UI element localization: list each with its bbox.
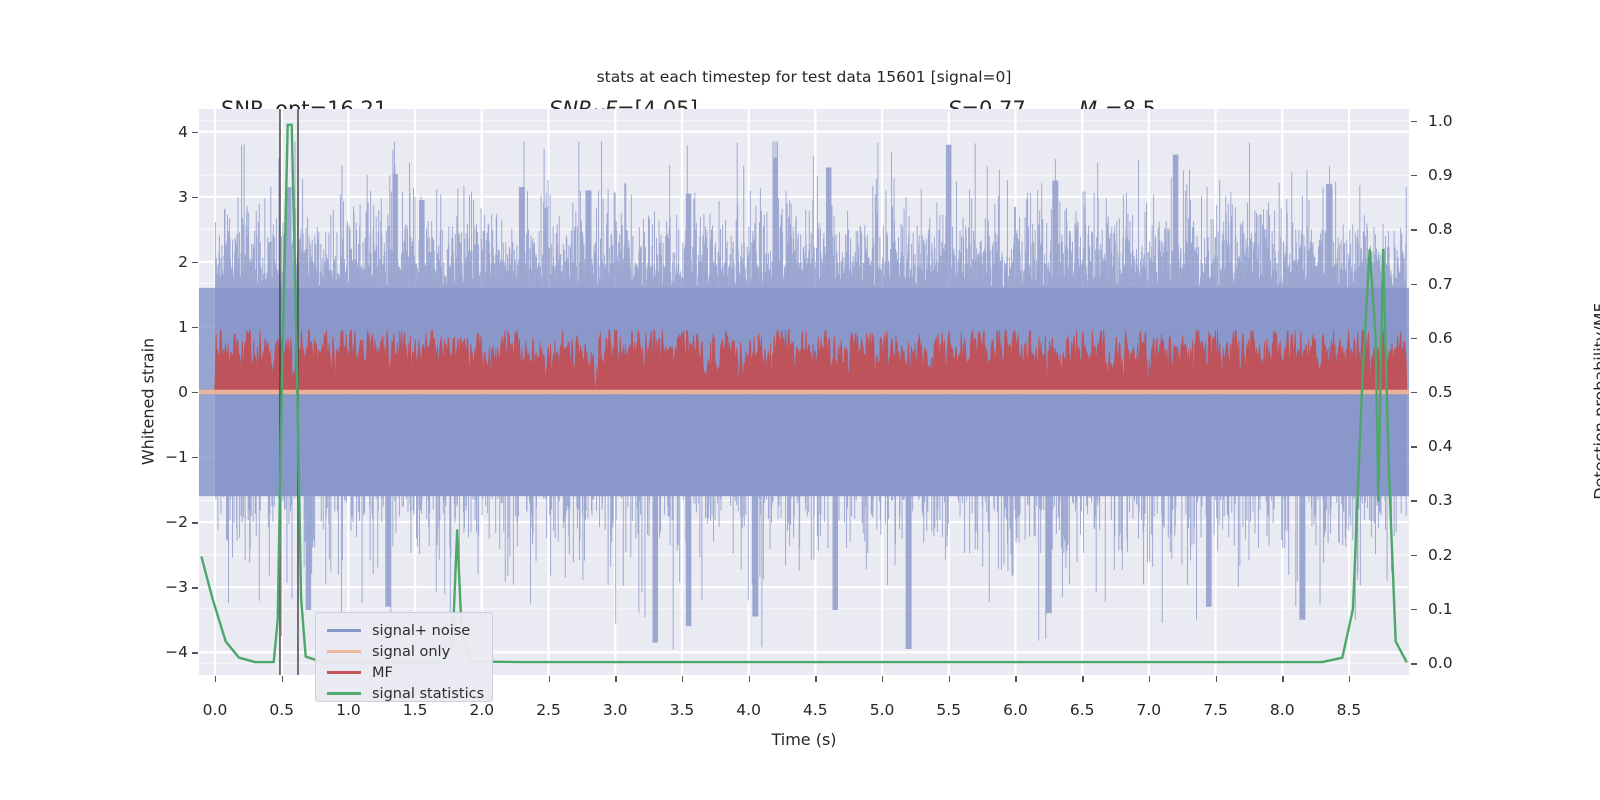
x-tickmark-9 bbox=[815, 676, 816, 682]
y-tick-left-0: 4 bbox=[178, 123, 188, 141]
y-tick-right-7: 0.3 bbox=[1428, 491, 1453, 509]
x-tickmark-16 bbox=[1282, 676, 1283, 682]
legend-label-0: signal+ noise bbox=[372, 623, 470, 639]
y-tickmark-right-2 bbox=[1411, 229, 1417, 230]
y-tickmark-left-6 bbox=[192, 522, 198, 523]
y-tickmark-left-3 bbox=[192, 327, 198, 328]
legend-swatch-icon-2 bbox=[327, 671, 361, 674]
x-tick-17: 8.5 bbox=[1337, 701, 1362, 719]
y-tick-left-6: −2 bbox=[165, 513, 188, 531]
x-tick-11: 5.5 bbox=[936, 701, 961, 719]
x-axis-label: Time (s) bbox=[199, 730, 1409, 749]
figure-canvas: stats at each timestep for test data 156… bbox=[0, 0, 1600, 800]
legend-item-2[interactable]: MF bbox=[316, 662, 492, 683]
y-tickmark-right-3 bbox=[1411, 284, 1417, 285]
plot-canvas bbox=[199, 109, 1409, 675]
y-tickmark-right-8 bbox=[1411, 555, 1417, 556]
y-tickmark-left-2 bbox=[192, 262, 198, 263]
x-tickmark-15 bbox=[1216, 676, 1217, 682]
y-tick-left-1: 3 bbox=[178, 188, 188, 206]
x-tick-10: 5.0 bbox=[870, 701, 895, 719]
y-tickmark-right-9 bbox=[1411, 609, 1417, 610]
y-tick-left-8: −4 bbox=[165, 643, 188, 661]
x-tick-5: 2.5 bbox=[536, 701, 561, 719]
y-tickmark-left-0 bbox=[192, 132, 198, 133]
x-tickmark-5 bbox=[549, 676, 550, 682]
y-tick-right-3: 0.7 bbox=[1428, 275, 1453, 293]
y-tick-right-2: 0.8 bbox=[1428, 220, 1453, 238]
y-axis-left-label: Whitened strain bbox=[139, 242, 158, 562]
legend-item-1[interactable]: signal only bbox=[316, 641, 492, 662]
x-tick-8: 4.0 bbox=[736, 701, 761, 719]
x-tickmark-13 bbox=[1082, 676, 1083, 682]
x-tickmark-1 bbox=[282, 676, 283, 682]
y-tickmark-right-10 bbox=[1411, 663, 1417, 664]
y-tick-right-9: 0.1 bbox=[1428, 600, 1453, 618]
legend-swatch-icon-1 bbox=[327, 650, 361, 653]
x-tick-6: 3.0 bbox=[603, 701, 628, 719]
y-tickmark-right-4 bbox=[1411, 338, 1417, 339]
x-tick-1: 0.5 bbox=[269, 701, 294, 719]
y-tickmark-left-8 bbox=[192, 652, 198, 653]
legend: signal+ noisesignal onlyMFsignal statist… bbox=[315, 612, 493, 702]
legend-label-1: signal only bbox=[372, 644, 450, 660]
y-tick-left-3: 1 bbox=[178, 318, 188, 336]
y-tick-left-5: −1 bbox=[165, 448, 188, 466]
y-tick-right-0: 1.0 bbox=[1428, 112, 1453, 130]
x-tickmark-12 bbox=[1015, 676, 1016, 682]
y-tick-left-4: 0 bbox=[178, 383, 188, 401]
legend-label-2: MF bbox=[372, 665, 393, 681]
y-axis-right-label: Detection probability/MF bbox=[1591, 202, 1600, 602]
x-tick-9: 4.5 bbox=[803, 701, 828, 719]
y-tick-right-5: 0.5 bbox=[1428, 383, 1453, 401]
x-tickmark-8 bbox=[749, 676, 750, 682]
y-tick-right-10: 0.0 bbox=[1428, 654, 1453, 672]
y-tickmark-left-5 bbox=[192, 457, 198, 458]
x-tickmark-7 bbox=[682, 676, 683, 682]
legend-item-0[interactable]: signal+ noise bbox=[316, 620, 492, 641]
x-tickmark-6 bbox=[615, 676, 616, 682]
x-tick-15: 7.5 bbox=[1203, 701, 1228, 719]
y-tick-right-6: 0.4 bbox=[1428, 437, 1453, 455]
y-tickmark-left-4 bbox=[192, 392, 198, 393]
plot-title: stats at each timestep for test data 156… bbox=[199, 68, 1409, 86]
y-tick-right-8: 0.2 bbox=[1428, 546, 1453, 564]
y-tick-right-1: 0.9 bbox=[1428, 166, 1453, 184]
y-tickmark-right-0 bbox=[1411, 121, 1417, 122]
x-tick-16: 8.0 bbox=[1270, 701, 1295, 719]
x-tick-14: 7.0 bbox=[1137, 701, 1162, 719]
plot-area bbox=[199, 109, 1409, 675]
y-tickmark-right-7 bbox=[1411, 500, 1417, 501]
y-tick-left-2: 2 bbox=[178, 253, 188, 271]
x-tickmark-14 bbox=[1149, 676, 1150, 682]
series-signal-noise bbox=[199, 142, 1409, 649]
y-tick-left-7: −3 bbox=[165, 578, 188, 596]
legend-label-3: signal statistics bbox=[372, 686, 484, 702]
legend-item-3[interactable]: signal statistics bbox=[316, 683, 492, 704]
y-tick-right-4: 0.6 bbox=[1428, 329, 1453, 347]
x-tick-0: 0.0 bbox=[203, 701, 228, 719]
y-tickmark-right-5 bbox=[1411, 392, 1417, 393]
y-tickmark-left-1 bbox=[192, 197, 198, 198]
x-tickmark-11 bbox=[949, 676, 950, 682]
y-tickmark-right-1 bbox=[1411, 175, 1417, 176]
y-tickmark-left-7 bbox=[192, 587, 198, 588]
x-tickmark-0 bbox=[215, 676, 216, 682]
x-tickmark-10 bbox=[882, 676, 883, 682]
x-tick-12: 6.0 bbox=[1003, 701, 1028, 719]
x-tick-13: 6.5 bbox=[1070, 701, 1095, 719]
y-tickmark-right-6 bbox=[1411, 446, 1417, 447]
x-tickmark-17 bbox=[1349, 676, 1350, 682]
legend-swatch-icon-3 bbox=[327, 692, 361, 695]
x-tick-7: 3.5 bbox=[670, 701, 695, 719]
legend-swatch-icon-0 bbox=[327, 629, 361, 632]
